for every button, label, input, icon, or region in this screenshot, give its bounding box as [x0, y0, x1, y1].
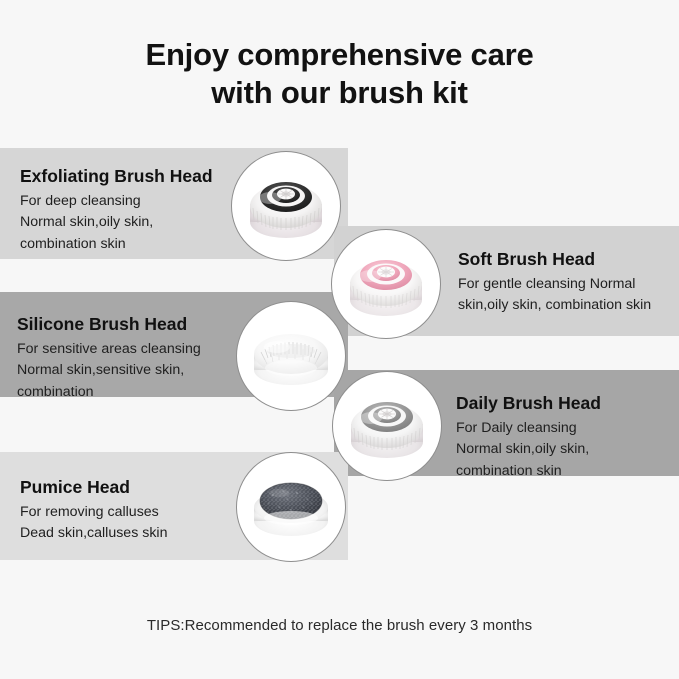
silicone-brush-head-image — [236, 301, 346, 411]
card-desc-line-2: skin,oily skin, combination skin — [458, 295, 651, 317]
soft-brush-head-image — [331, 229, 441, 339]
card-desc-line-2: Normal skin,sensitive skin, — [17, 360, 201, 382]
card-pumice-head: Pumice Head For removing calluses Dead s… — [20, 476, 167, 545]
card-desc-line-3: combination skin — [20, 234, 213, 256]
card-desc-line-3: combination — [17, 382, 201, 404]
pumice-head-image — [236, 452, 346, 562]
card-title: Daily Brush Head — [456, 392, 601, 415]
card-desc-line-2: Normal skin,oily skin, — [20, 212, 213, 234]
card-silicone-brush-head: Silicone Brush Head For sensitive areas … — [17, 313, 201, 403]
card-desc-line-3: combination skin — [456, 461, 601, 483]
page-title: Enjoy comprehensive care with our brush … — [0, 36, 679, 113]
card-desc-line-1: For sensitive areas cleansing — [17, 339, 201, 361]
card-desc-line-1: For removing calluses — [20, 502, 167, 524]
exfoliating-brush-head-image — [231, 151, 341, 261]
card-desc-line-1: For Daily cleansing — [456, 418, 601, 440]
card-daily-brush-head: Daily Brush Head For Daily cleansing Nor… — [456, 392, 601, 482]
pumice-head-svg — [239, 455, 343, 559]
daily-brush-svg — [335, 374, 439, 478]
card-desc-line-2: Dead skin,calluses skin — [20, 523, 167, 545]
card-title: Exfoliating Brush Head — [20, 165, 213, 188]
card-desc-line-1: For gentle cleansing Normal — [458, 274, 651, 296]
card-desc-line-1: For deep cleansing — [20, 191, 213, 213]
daily-brush-head-image — [332, 371, 442, 481]
card-title: Silicone Brush Head — [17, 313, 201, 336]
soft-brush-svg — [334, 232, 438, 336]
title-line-2: with our brush kit — [0, 74, 679, 112]
card-desc-line-2: Normal skin,oily skin, — [456, 439, 601, 461]
brush-kit-infographic: Enjoy comprehensive care with our brush … — [0, 0, 679, 679]
card-title: Pumice Head — [20, 476, 167, 499]
title-line-1: Enjoy comprehensive care — [0, 36, 679, 74]
card-soft-brush-head: Soft Brush Head For gentle cleansing Nor… — [458, 248, 651, 317]
exfoliating-brush-svg — [234, 154, 338, 258]
card-exfoliating-brush-head: Exfoliating Brush Head For deep cleansin… — [20, 165, 213, 255]
tips-note: TIPS:Recommended to replace the brush ev… — [0, 617, 679, 634]
silicone-brush-svg — [239, 304, 343, 408]
card-title: Soft Brush Head — [458, 248, 651, 271]
